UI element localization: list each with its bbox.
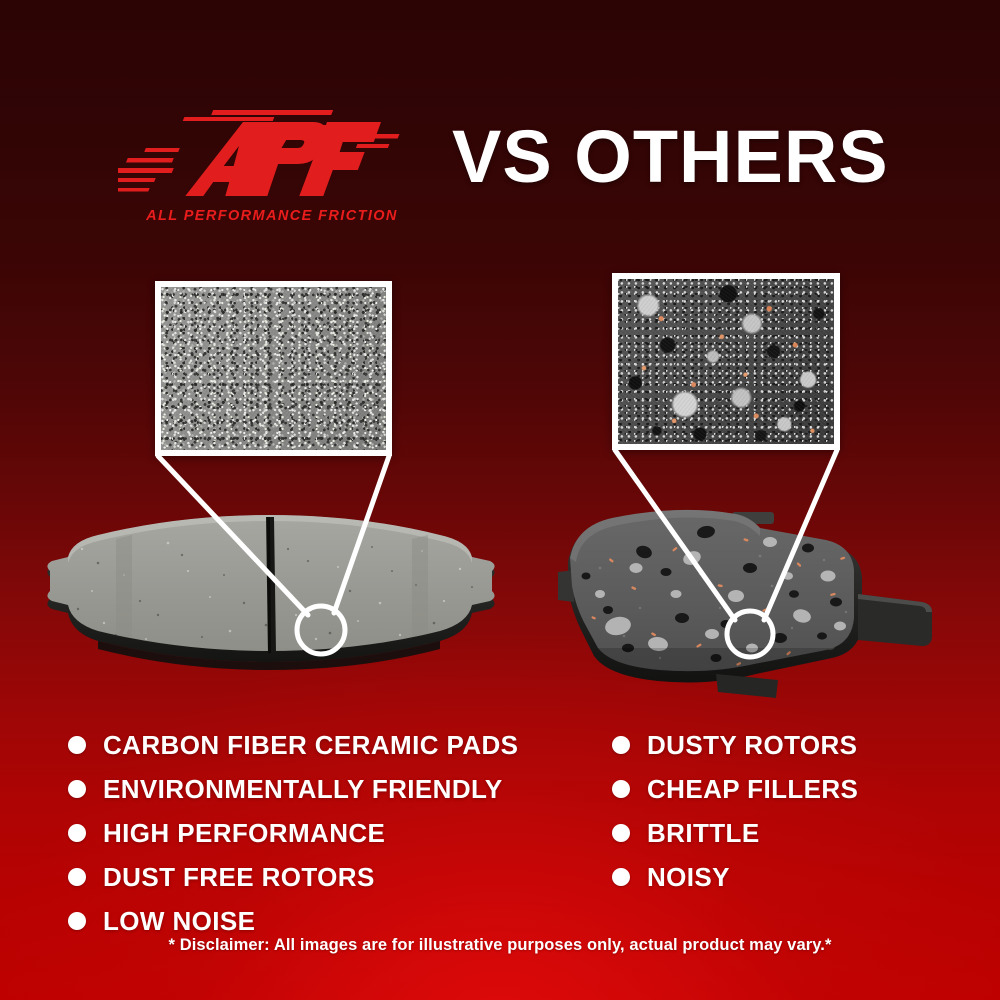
list-item: CARBON FIBER CERAMIC PADS bbox=[68, 728, 518, 762]
list-item: DUST FREE ROTORS bbox=[68, 860, 518, 894]
texture-noise-overlay bbox=[161, 287, 386, 450]
bullet-dot-icon bbox=[612, 736, 630, 754]
competitor-pad-drawing bbox=[540, 498, 960, 723]
bullet-dot-icon bbox=[612, 868, 630, 886]
apf-logo-mark bbox=[118, 108, 418, 206]
list-item: NOISY bbox=[612, 860, 858, 894]
list-item: CHEAP FILLERS bbox=[612, 772, 858, 806]
list-item-label: DUSTY ROTORS bbox=[647, 730, 857, 761]
list-item-label: HIGH PERFORMANCE bbox=[103, 818, 385, 849]
bullet-dot-icon bbox=[612, 780, 630, 798]
list-item-label: BRITTLE bbox=[647, 818, 760, 849]
list-item-label: ENVIRONMENTALLY FRIENDLY bbox=[103, 774, 503, 805]
list-item: ENVIRONMENTALLY FRIENDLY bbox=[68, 772, 518, 806]
competitor-drawbacks-list: DUSTY ROTORS CHEAP FILLERS BRITTLE NOISY bbox=[612, 728, 858, 904]
page-title: VS OTHERS bbox=[452, 120, 889, 194]
comparison-infographic: ALL PERFORMANCE FRICTION VS OTHERS bbox=[0, 0, 1000, 1000]
apf-pad-surface-magnified bbox=[155, 281, 392, 456]
competitor-pad-surface-magnified bbox=[612, 273, 840, 450]
bullet-dot-icon bbox=[68, 736, 86, 754]
list-item-label: CHEAP FILLERS bbox=[647, 774, 858, 805]
apf-logo-tagline: ALL PERFORMANCE FRICTION bbox=[126, 208, 418, 224]
list-item: LOW NOISE bbox=[68, 904, 518, 938]
bullet-dot-icon bbox=[68, 868, 86, 886]
apf-benefits-list: CARBON FIBER CERAMIC PADS ENVIRONMENTALL… bbox=[68, 728, 518, 948]
list-item-label: LOW NOISE bbox=[103, 906, 255, 937]
disclaimer-text: * Disclaimer: All images are for illustr… bbox=[0, 936, 1000, 955]
list-item: BRITTLE bbox=[612, 816, 858, 850]
apf-brake-pad bbox=[20, 505, 520, 705]
bullet-dot-icon bbox=[68, 780, 86, 798]
list-item: DUSTY ROTORS bbox=[612, 728, 858, 762]
bullet-dot-icon bbox=[68, 824, 86, 842]
apf-logo: ALL PERFORMANCE FRICTION bbox=[118, 108, 418, 238]
list-item-label: DUST FREE ROTORS bbox=[103, 862, 375, 893]
competitor-brake-pad bbox=[540, 498, 960, 723]
bullet-dot-icon bbox=[612, 824, 630, 842]
list-item: HIGH PERFORMANCE bbox=[68, 816, 518, 850]
list-item-label: NOISY bbox=[647, 862, 730, 893]
texture-noise-overlay bbox=[618, 279, 834, 444]
list-item-label: CARBON FIBER CERAMIC PADS bbox=[103, 730, 518, 761]
apf-pad-drawing bbox=[20, 505, 520, 705]
bullet-dot-icon bbox=[68, 912, 86, 930]
